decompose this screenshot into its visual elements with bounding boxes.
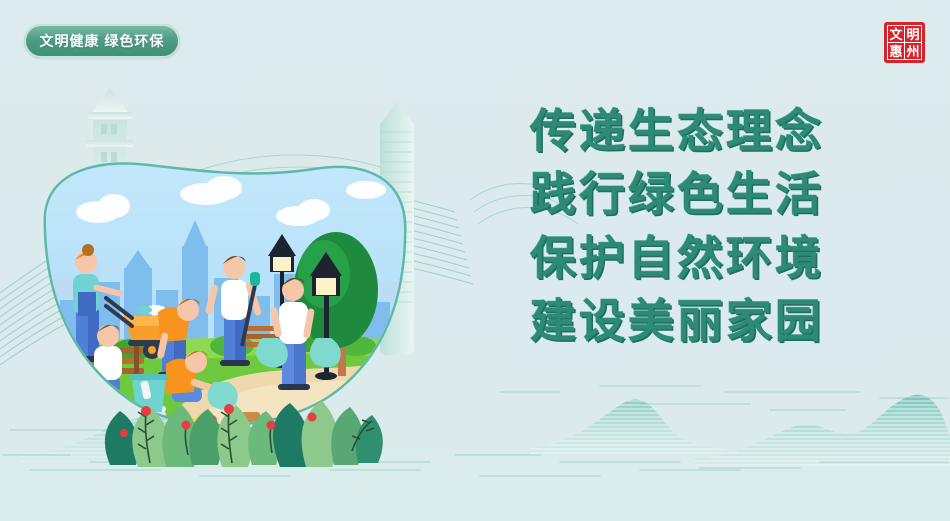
headline-line-2: 践行绿色生活: [530, 163, 824, 226]
foliage-decoration: [80, 355, 400, 475]
seal-char-2: 明: [905, 26, 921, 42]
headline-line-4: 建设美丽家园: [530, 290, 824, 353]
wenming-huizhou-seal[interactable]: 文 明 惠 州: [884, 22, 925, 63]
headline-block: 传递生态理念 践行绿色生活 保护自然环境 建设美丽家园: [530, 100, 824, 354]
headline-line-3: 保护自然环境: [530, 227, 824, 290]
slogan-badge-label: 文明健康 绿色环保: [40, 31, 165, 51]
seal-char-1: 文: [888, 26, 904, 42]
seal-char-3: 惠: [888, 43, 904, 59]
headline-line-1: 传递生态理念: [530, 100, 824, 163]
slogan-badge[interactable]: 文明健康 绿色环保: [24, 24, 180, 58]
poster-canvas: 文明健康 绿色环保 文 明 惠 州 传递生态理念 践行绿色生活 保护自然环境 建…: [0, 0, 950, 521]
seal-char-4: 州: [905, 43, 921, 59]
